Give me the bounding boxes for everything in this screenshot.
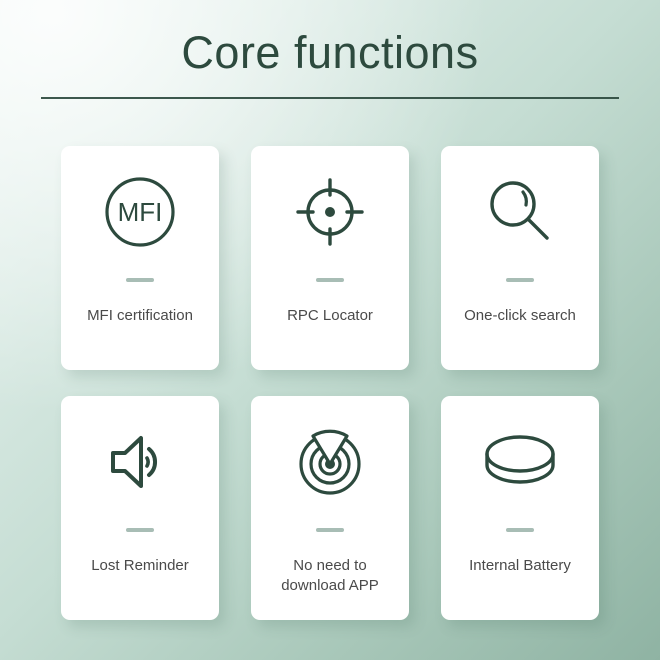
card-divider-dash [316, 278, 344, 282]
feature-card-internal-battery[interactable]: Internal Battery [441, 396, 599, 620]
card-label: One-click search [458, 306, 582, 326]
feature-card-one-click-search[interactable]: One-click search [441, 146, 599, 370]
card-divider-dash [126, 278, 154, 282]
feature-card-no-app-needed[interactable]: No need to download APP [251, 396, 409, 620]
card-label: RPC Locator [281, 306, 379, 326]
card-label: MFI certification [81, 306, 199, 326]
card-divider-dash [506, 528, 534, 532]
card-label: No need to download APP [275, 556, 385, 597]
feature-card-lost-reminder[interactable]: Lost Reminder [61, 396, 219, 620]
card-divider-dash [316, 528, 344, 532]
card-label: Internal Battery [463, 556, 577, 576]
title-divider-rule [41, 97, 619, 99]
feature-card-rpc-locator[interactable]: RPC Locator [251, 146, 409, 370]
page-header: Core functions [0, 0, 660, 99]
card-divider-dash [126, 528, 154, 532]
mfi-badge-icon: MFI [61, 146, 219, 278]
magnifying-glass-icon [441, 146, 599, 278]
feature-card-grid: MFI MFI certification RPC Locator [61, 146, 599, 620]
feature-card-mfi-certification[interactable]: MFI MFI certification [61, 146, 219, 370]
card-label: Lost Reminder [85, 556, 195, 576]
coin-cell-battery-icon [441, 396, 599, 528]
page-title: Core functions [0, 28, 660, 78]
mfi-label-text: MFI [118, 197, 163, 227]
crosshair-target-icon [251, 146, 409, 278]
speaker-volume-icon [61, 396, 219, 528]
card-divider-dash [506, 278, 534, 282]
radar-sweep-icon [251, 396, 409, 528]
